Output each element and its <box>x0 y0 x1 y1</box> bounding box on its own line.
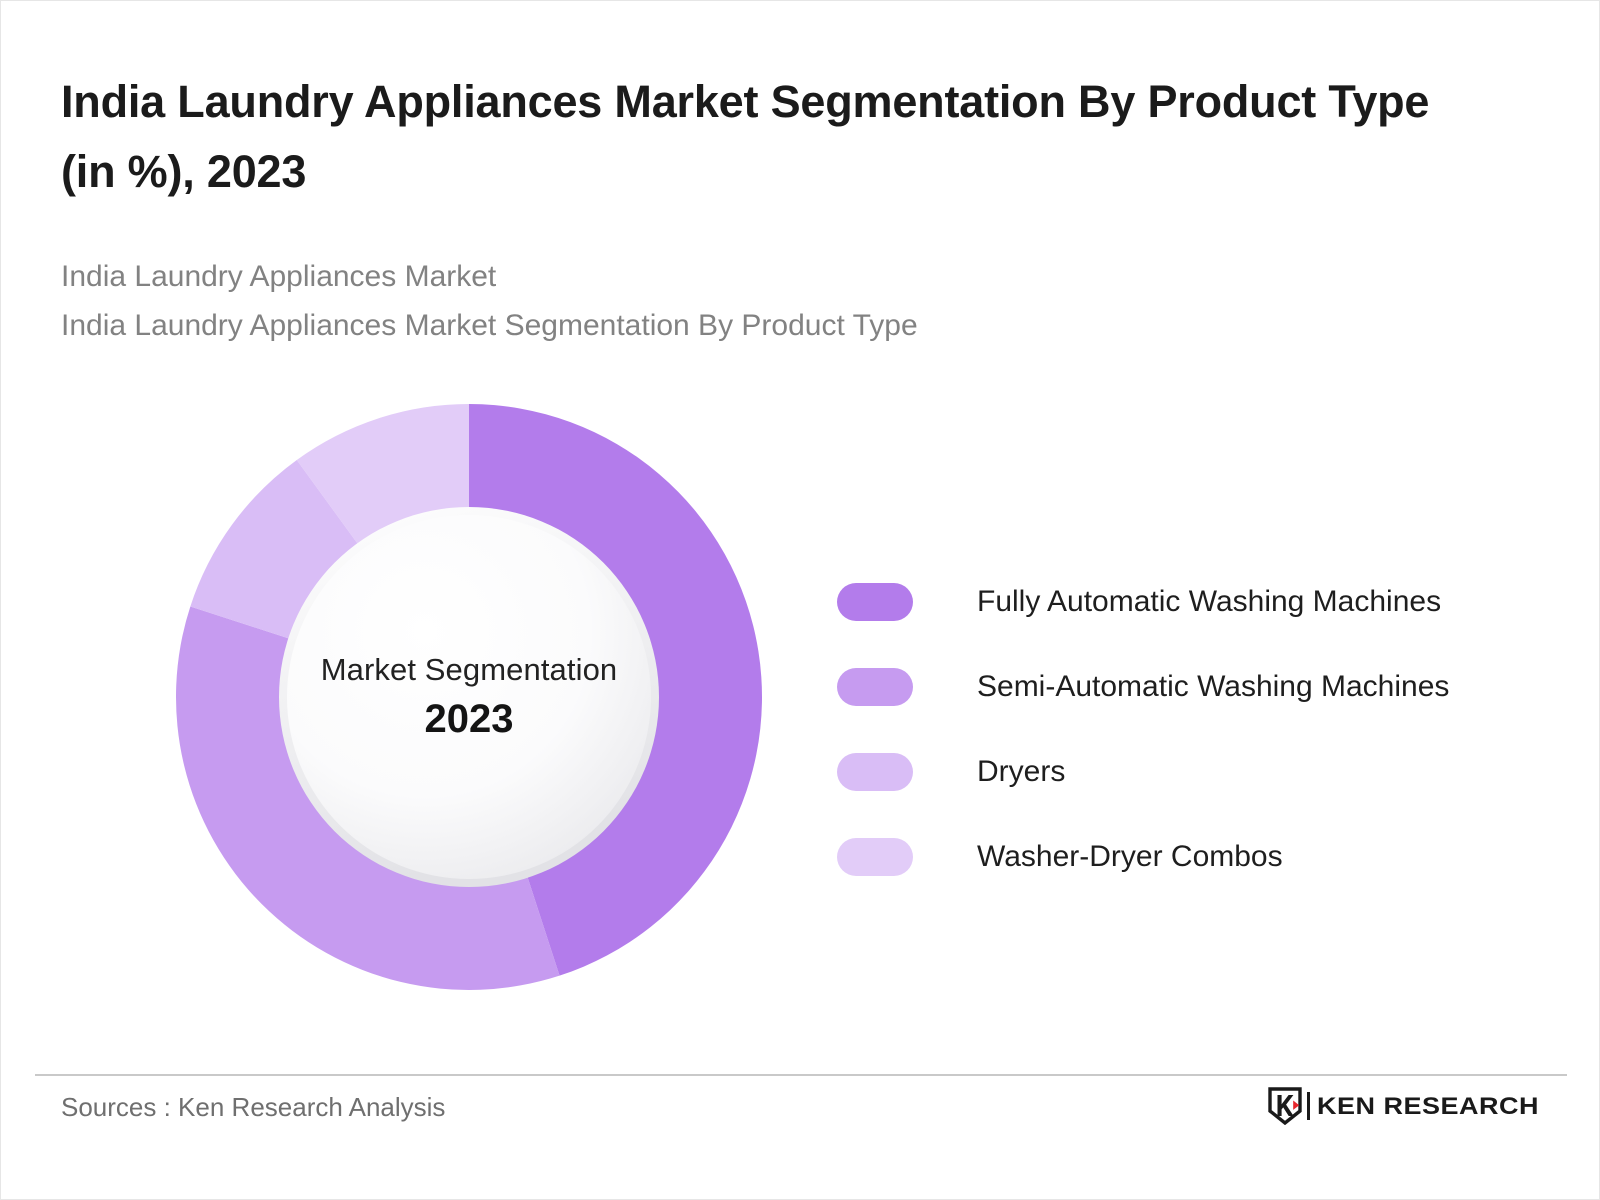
legend-swatch-fully-automatic-washing-machines <box>837 583 913 621</box>
footer-divider <box>35 1074 1567 1076</box>
chart-area: Market Segmentation 2023 Fully Automatic… <box>1 371 1600 1031</box>
ken-research-shield-k-icon <box>1268 1087 1302 1125</box>
subtitle-block: India Laundry Appliances Market India La… <box>61 253 1361 351</box>
subtitle-line-1: India Laundry Appliances Market <box>61 253 1361 302</box>
chart-legend: Fully Automatic Washing Machines Semi-Au… <box>837 559 1537 899</box>
legend-swatch-dryers <box>837 753 913 791</box>
legend-label-semi-automatic-washing-machines: Semi-Automatic Washing Machines <box>977 669 1449 705</box>
brand-name: KEN RESEARCH <box>1317 1092 1539 1119</box>
chart-page: India Laundry Appliances Market Segmenta… <box>0 0 1600 1200</box>
legend-label-dryers: Dryers <box>977 754 1065 790</box>
legend-swatch-semi-automatic-washing-machines <box>837 668 913 706</box>
brand-logo: KEN RESEARCH <box>1268 1086 1539 1126</box>
sources-text: Sources : Ken Research Analysis <box>61 1092 445 1123</box>
legend-item-semi-automatic-washing-machines[interactable]: Semi-Automatic Washing Machines <box>837 644 1537 729</box>
brand-divider <box>1307 1092 1310 1120</box>
legend-item-dryers[interactable]: Dryers <box>837 729 1537 814</box>
legend-item-fully-automatic-washing-machines[interactable]: Fully Automatic Washing Machines <box>837 559 1537 644</box>
legend-swatch-washer-dryer-combos <box>837 838 913 876</box>
legend-label-fully-automatic-washing-machines: Fully Automatic Washing Machines <box>977 584 1441 620</box>
legend-label-washer-dryer-combos: Washer-Dryer Combos <box>977 839 1283 875</box>
page-title: India Laundry Appliances Market Segmenta… <box>61 67 1481 207</box>
subtitle-line-2: India Laundry Appliances Market Segmenta… <box>61 302 1361 351</box>
donut-chart <box>176 404 762 990</box>
legend-item-washer-dryer-combos[interactable]: Washer-Dryer Combos <box>837 814 1537 899</box>
